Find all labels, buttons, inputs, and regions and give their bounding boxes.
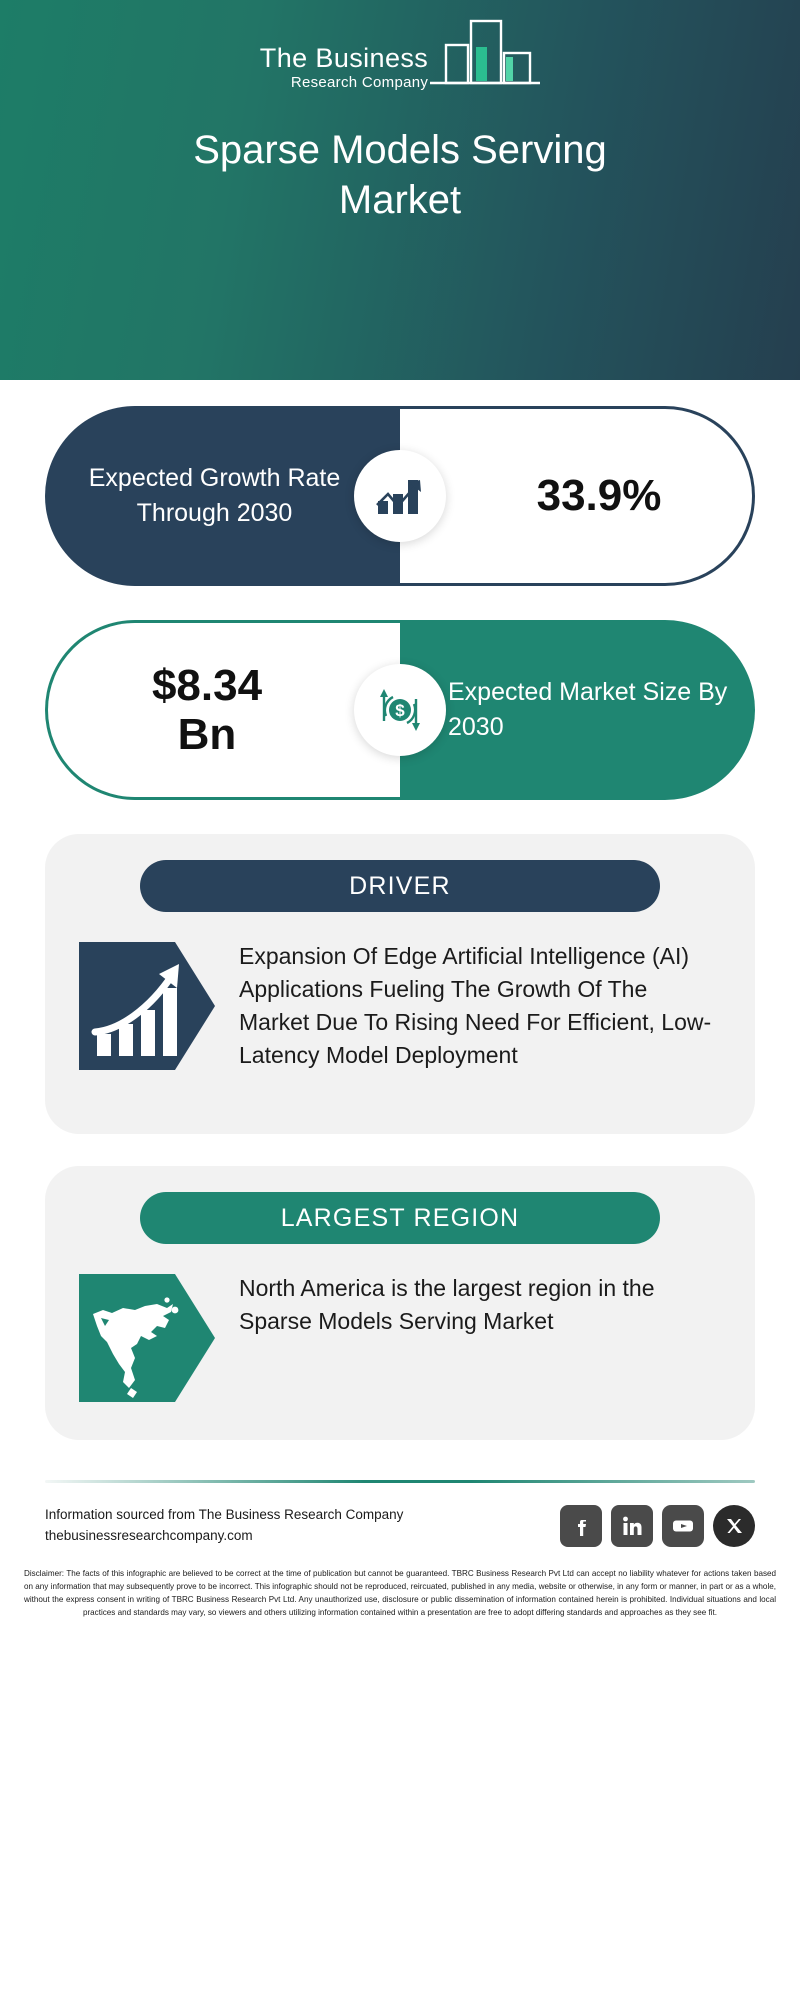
- header-banner: The Business Research Company Sparse Mod…: [0, 0, 800, 380]
- linkedin-icon[interactable]: [611, 1505, 653, 1547]
- largest-region-panel: LARGEST REGION North America is the larg…: [45, 1166, 755, 1440]
- stat-card-market-size: $8.34 Bn Expected Market Size By 2030 $: [45, 620, 755, 800]
- svg-text:$: $: [395, 701, 405, 720]
- page-title: Sparse Models Serving Market: [130, 126, 670, 225]
- growth-rate-value-half: 33.9%: [400, 406, 755, 586]
- market-size-value-half: $8.34 Bn: [45, 620, 400, 800]
- footer-divider: [45, 1480, 755, 1483]
- logo-text: The Business Research Company: [260, 45, 428, 94]
- dollar-cycle-icon: $: [354, 664, 446, 756]
- growth-chart-icon: [354, 450, 446, 542]
- growth-rate-value: 33.9%: [491, 471, 662, 520]
- market-size-value: $8.34 Bn: [152, 661, 296, 760]
- source-line-1: Information sourced from The Business Re…: [45, 1505, 403, 1526]
- growth-rate-label: Expected Growth Rate Through 2030: [45, 461, 400, 532]
- growth-rate-label-half: Expected Growth Rate Through 2030: [45, 406, 400, 586]
- youtube-icon[interactable]: [662, 1505, 704, 1547]
- source-text: Information sourced from The Business Re…: [45, 1505, 403, 1547]
- disclaimer-text: Disclaimer: The facts of this infographi…: [24, 1567, 776, 1619]
- largest-region-body: North America is the largest region in t…: [79, 1270, 721, 1406]
- driver-text: Expansion Of Edge Artificial Intelligenc…: [239, 938, 721, 1072]
- market-size-value-line2: Bn: [178, 710, 237, 759]
- logo-line-2: Research Company: [291, 75, 428, 90]
- market-size-label-half: Expected Market Size By 2030: [400, 620, 755, 800]
- stat-card-growth-rate: Expected Growth Rate Through 2030 33.9%: [45, 406, 755, 586]
- company-logo: The Business Research Company: [260, 22, 540, 94]
- driver-panel: DRIVER Expansion Of Edge Artificial Inte…: [45, 834, 755, 1134]
- source-line-2[interactable]: thebusinessresearchcompany.com: [45, 1526, 403, 1547]
- x-twitter-icon[interactable]: [713, 1505, 755, 1547]
- driver-body: Expansion Of Edge Artificial Intelligenc…: [79, 938, 721, 1074]
- rising-bar-chart-arrow-icon: [79, 938, 215, 1074]
- footer-row: Information sourced from The Business Re…: [45, 1505, 755, 1547]
- market-size-value-line1: $8.34: [152, 661, 262, 710]
- driver-pill-label: DRIVER: [140, 860, 660, 912]
- footer: Information sourced from The Business Re…: [45, 1440, 755, 1547]
- social-links: [560, 1505, 755, 1547]
- largest-region-pill-label: LARGEST REGION: [140, 1192, 660, 1244]
- largest-region-text: North America is the largest region in t…: [239, 1270, 721, 1338]
- stats-band: Expected Growth Rate Through 2030 33.9% …: [0, 406, 800, 800]
- logo-line-1: The Business: [260, 45, 428, 72]
- bar-chart-logo-mark: [430, 17, 540, 94]
- facebook-icon[interactable]: [560, 1505, 602, 1547]
- market-size-label: Expected Market Size By 2030: [400, 675, 755, 746]
- north-america-map-icon: [79, 1270, 215, 1406]
